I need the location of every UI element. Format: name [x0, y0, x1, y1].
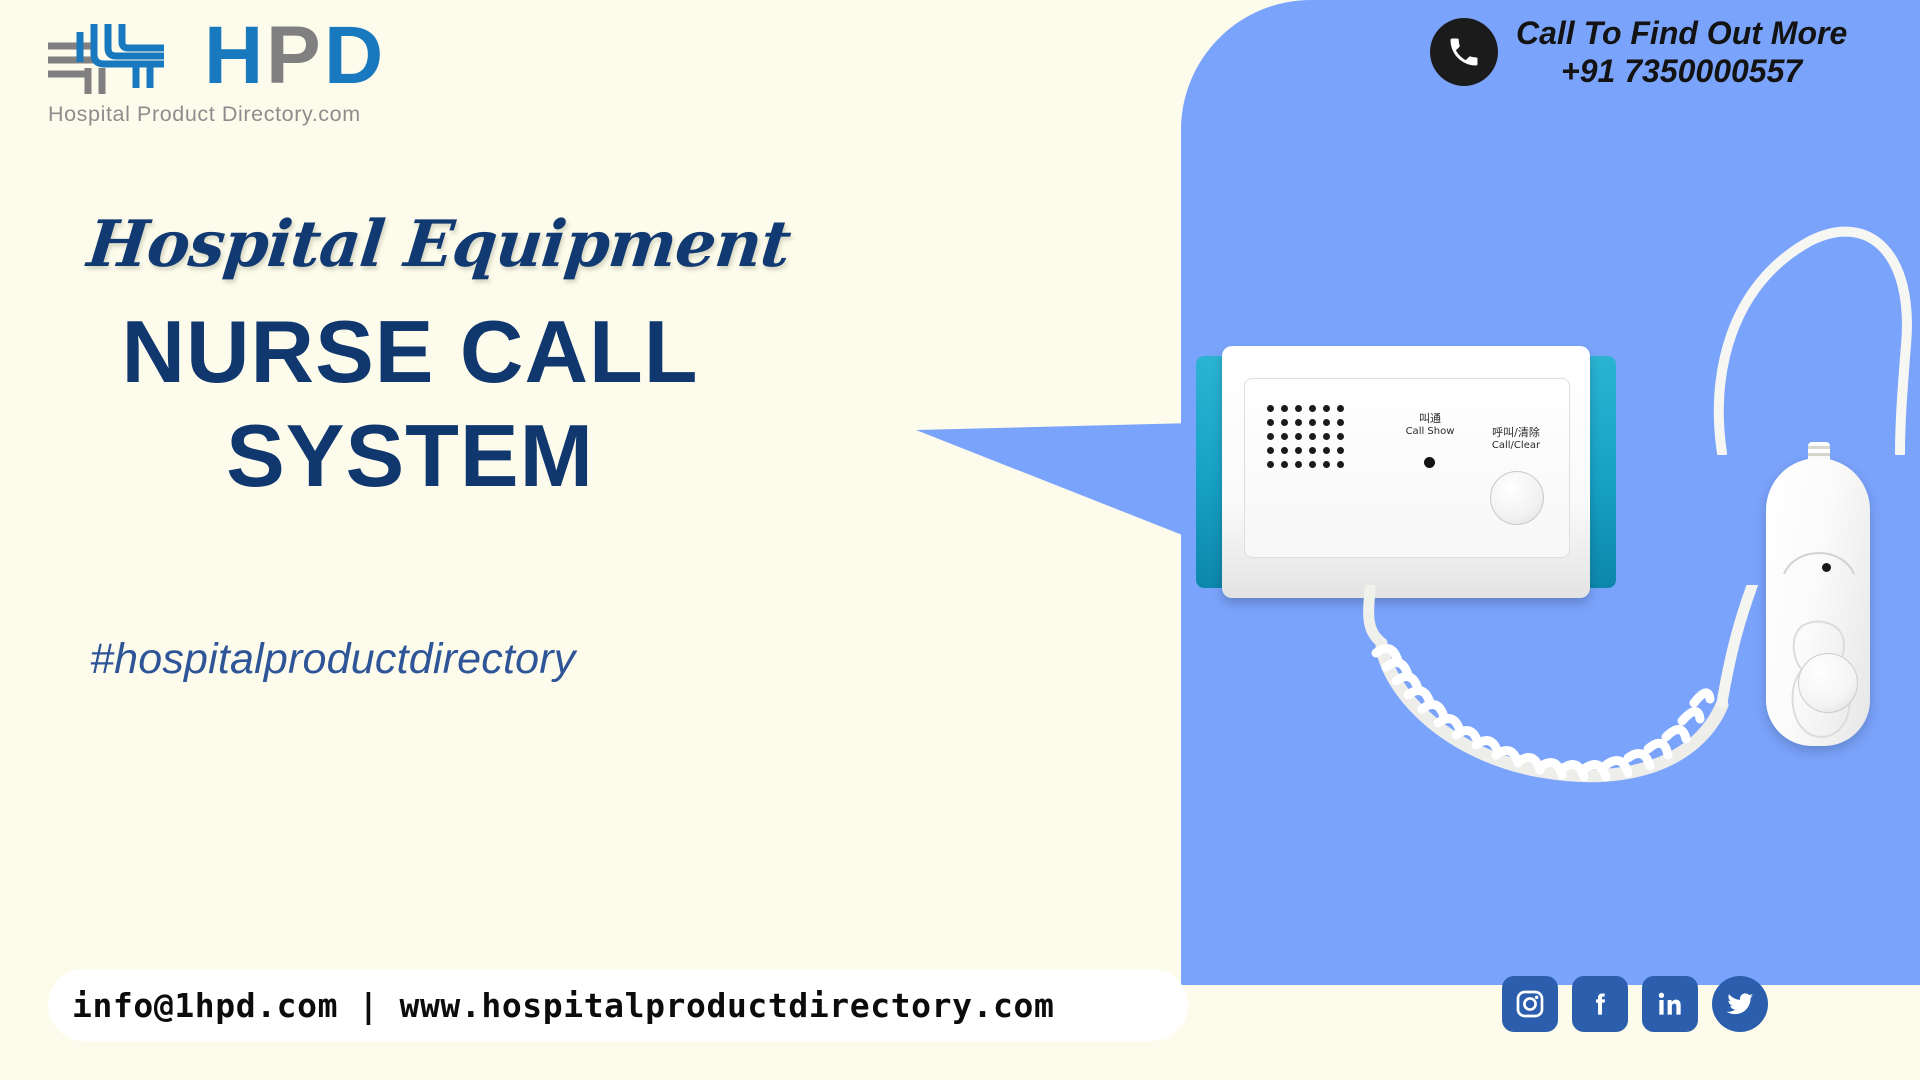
call-clear-label: 呼叫/清除 Call/Clear	[1473, 427, 1559, 451]
phone-badge[interactable]	[1430, 18, 1498, 86]
title-line-2: SYSTEM	[60, 404, 760, 508]
footer-contact-text[interactable]: info@1hpd.com | www.hospitalproductdirec…	[48, 986, 1054, 1025]
instagram-icon	[1514, 988, 1546, 1020]
brand-logo[interactable]: H P D Hospital Product Directory.com	[44, 18, 504, 127]
pendant-led-indicator	[1822, 563, 1831, 572]
hpd-letters-icon: H P D	[204, 20, 504, 98]
social-link-instagram[interactable]	[1502, 976, 1558, 1032]
call-pendant	[1758, 428, 1880, 748]
eyebrow-script-title: Hospital Equipment	[84, 207, 793, 282]
social-link-twitter[interactable]	[1712, 976, 1768, 1032]
page-title: NURSE CALL SYSTEM	[60, 300, 760, 508]
linkedin-icon	[1654, 988, 1686, 1020]
speaker-grille-icon	[1267, 405, 1348, 472]
footer-contact-bar: info@1hpd.com | www.hospitalproductdirec…	[48, 969, 1188, 1041]
hashtag-text: #hospitalproductdirectory	[90, 635, 575, 684]
pointer-arrow-shape	[905, 375, 1195, 640]
call-show-label-en: Call Show	[1395, 426, 1465, 438]
social-link-linkedin[interactable]	[1642, 976, 1698, 1032]
promo-banner: H P D Hospital Product Directory.com Hos…	[0, 0, 1920, 1080]
pendant-hanging-cord	[1700, 225, 1920, 455]
phone-number[interactable]: +91 7350000557	[1516, 52, 1847, 90]
call-clear-button[interactable]	[1490, 471, 1544, 525]
pendant-call-button[interactable]	[1798, 653, 1858, 713]
call-text: Call To Find Out More +91 7350000557	[1516, 14, 1847, 90]
hpd-symbol-icon	[44, 18, 204, 98]
svg-text:P: P	[266, 20, 321, 98]
pendant-arc-line-icon	[1782, 544, 1856, 578]
social-links	[1502, 976, 1768, 1032]
logo-mark-row: H P D	[44, 18, 504, 98]
social-link-facebook[interactable]	[1572, 976, 1628, 1032]
call-to-action-block[interactable]: Call To Find Out More +91 7350000557	[1430, 14, 1847, 90]
nurse-call-wall-unit: 叫通 Call Show 呼叫/清除 Call/Clear	[1196, 346, 1616, 601]
call-clear-label-en: Call/Clear	[1473, 440, 1559, 452]
call-label: Call To Find Out More	[1516, 15, 1847, 51]
svg-text:D: D	[324, 20, 383, 98]
pendant-body	[1766, 458, 1870, 746]
svg-text:H: H	[204, 20, 263, 98]
logo-tagline: Hospital Product Directory.com	[44, 102, 504, 127]
twitter-bird-icon	[1724, 988, 1756, 1020]
call-show-label: 叫通 Call Show	[1395, 413, 1465, 437]
call-show-label-cn: 叫通	[1395, 413, 1465, 426]
status-led-indicator	[1424, 457, 1435, 468]
device-faceplate: 叫通 Call Show 呼叫/清除 Call/Clear	[1244, 378, 1570, 558]
coiled-cord-graphic	[1330, 585, 1810, 835]
facebook-icon	[1584, 988, 1616, 1020]
title-line-1: NURSE CALL	[60, 300, 760, 404]
device-body: 叫通 Call Show 呼叫/清除 Call/Clear	[1222, 346, 1590, 598]
call-clear-label-cn: 呼叫/清除	[1473, 427, 1559, 440]
phone-handset-icon	[1446, 34, 1482, 70]
